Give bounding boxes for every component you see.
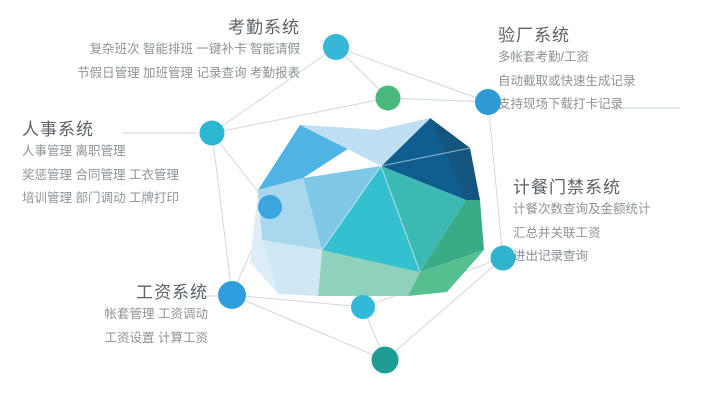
label-group-canteen-access-system: 计餐门禁系统计餐次数查询及金额统计汇总并关联工资进出记录查询 bbox=[513, 178, 703, 268]
connector-n-right-up-n-right-low bbox=[488, 102, 503, 258]
factory-audit-system-title: 验厂系统 bbox=[498, 26, 708, 46]
payroll-system-feature-line: 工资设置 计算工资 bbox=[28, 327, 208, 350]
hr-system-feature-line: 人事管理 离职管理 bbox=[22, 140, 222, 163]
attendance-system-feature-line: 节假日管理 加班管理 记录查询 考勤报表 bbox=[60, 62, 300, 85]
node-bottom-middle[interactable] bbox=[351, 295, 375, 319]
label-group-payroll-system: 工资系统帐套管理 工资调动工资设置 计算工资 bbox=[28, 283, 208, 350]
label-group-factory-audit-system: 验厂系统多帐套考勤/工资自动截取或快速生成记录支持现场下载打卡记录 bbox=[498, 26, 708, 116]
hr-system-title: 人事系统 bbox=[22, 120, 222, 140]
canteen-access-system-feature-line: 汇总并关联工资 bbox=[513, 222, 703, 245]
attendance-system-feature-line: 复杂班次 智能排班 一键补卡 智能请假 bbox=[60, 38, 300, 61]
connector-n-top-n-right-up bbox=[336, 47, 488, 102]
factory-audit-system-feature-line: 自动截取或快速生成记录 bbox=[498, 70, 708, 93]
infographic-canvas: 考勤系统复杂班次 智能排班 一键补卡 智能请假节假日管理 加班管理 记录查询 考… bbox=[0, 0, 710, 415]
payroll-system-title: 工资系统 bbox=[28, 283, 208, 303]
factory-audit-system-feature-line: 多帐套考勤/工资 bbox=[498, 46, 708, 69]
connector-n-green-n-right-up bbox=[388, 98, 488, 102]
canteen-access-system-feature-line: 进出记录查询 bbox=[513, 245, 703, 268]
factory-audit-system-feature-line: 支持现场下载打卡记录 bbox=[498, 93, 708, 116]
hr-system-feature-line: 奖惩管理 合同管理 工衣管理 bbox=[22, 164, 222, 187]
connector-n-left-low-n-bot-mid bbox=[232, 295, 363, 307]
polyhedron-facets-layer bbox=[250, 118, 484, 296]
payroll-system-feature-line: 帐套管理 工资调动 bbox=[28, 303, 208, 326]
node-bottom[interactable] bbox=[372, 347, 399, 374]
node-top[interactable] bbox=[323, 34, 349, 60]
node-left-lower[interactable] bbox=[218, 281, 246, 309]
attendance-system-title: 考勤系统 bbox=[60, 18, 300, 38]
node-right-lower[interactable] bbox=[491, 246, 516, 271]
canteen-access-system-feature-line: 计餐次数查询及金额统计 bbox=[513, 198, 703, 221]
label-group-hr-system: 人事系统人事管理 离职管理奖惩管理 合同管理 工衣管理培训管理 部门调动 工牌打… bbox=[22, 120, 222, 210]
canteen-access-system-title: 计餐门禁系统 bbox=[513, 178, 703, 198]
hr-system-feature-line: 培训管理 部门调动 工牌打印 bbox=[22, 187, 222, 210]
label-group-attendance-system: 考勤系统复杂班次 智能排班 一键补卡 智能请假节假日管理 加班管理 记录查询 考… bbox=[60, 18, 300, 85]
node-green-center[interactable] bbox=[376, 86, 401, 111]
node-left-middle[interactable] bbox=[258, 195, 282, 219]
